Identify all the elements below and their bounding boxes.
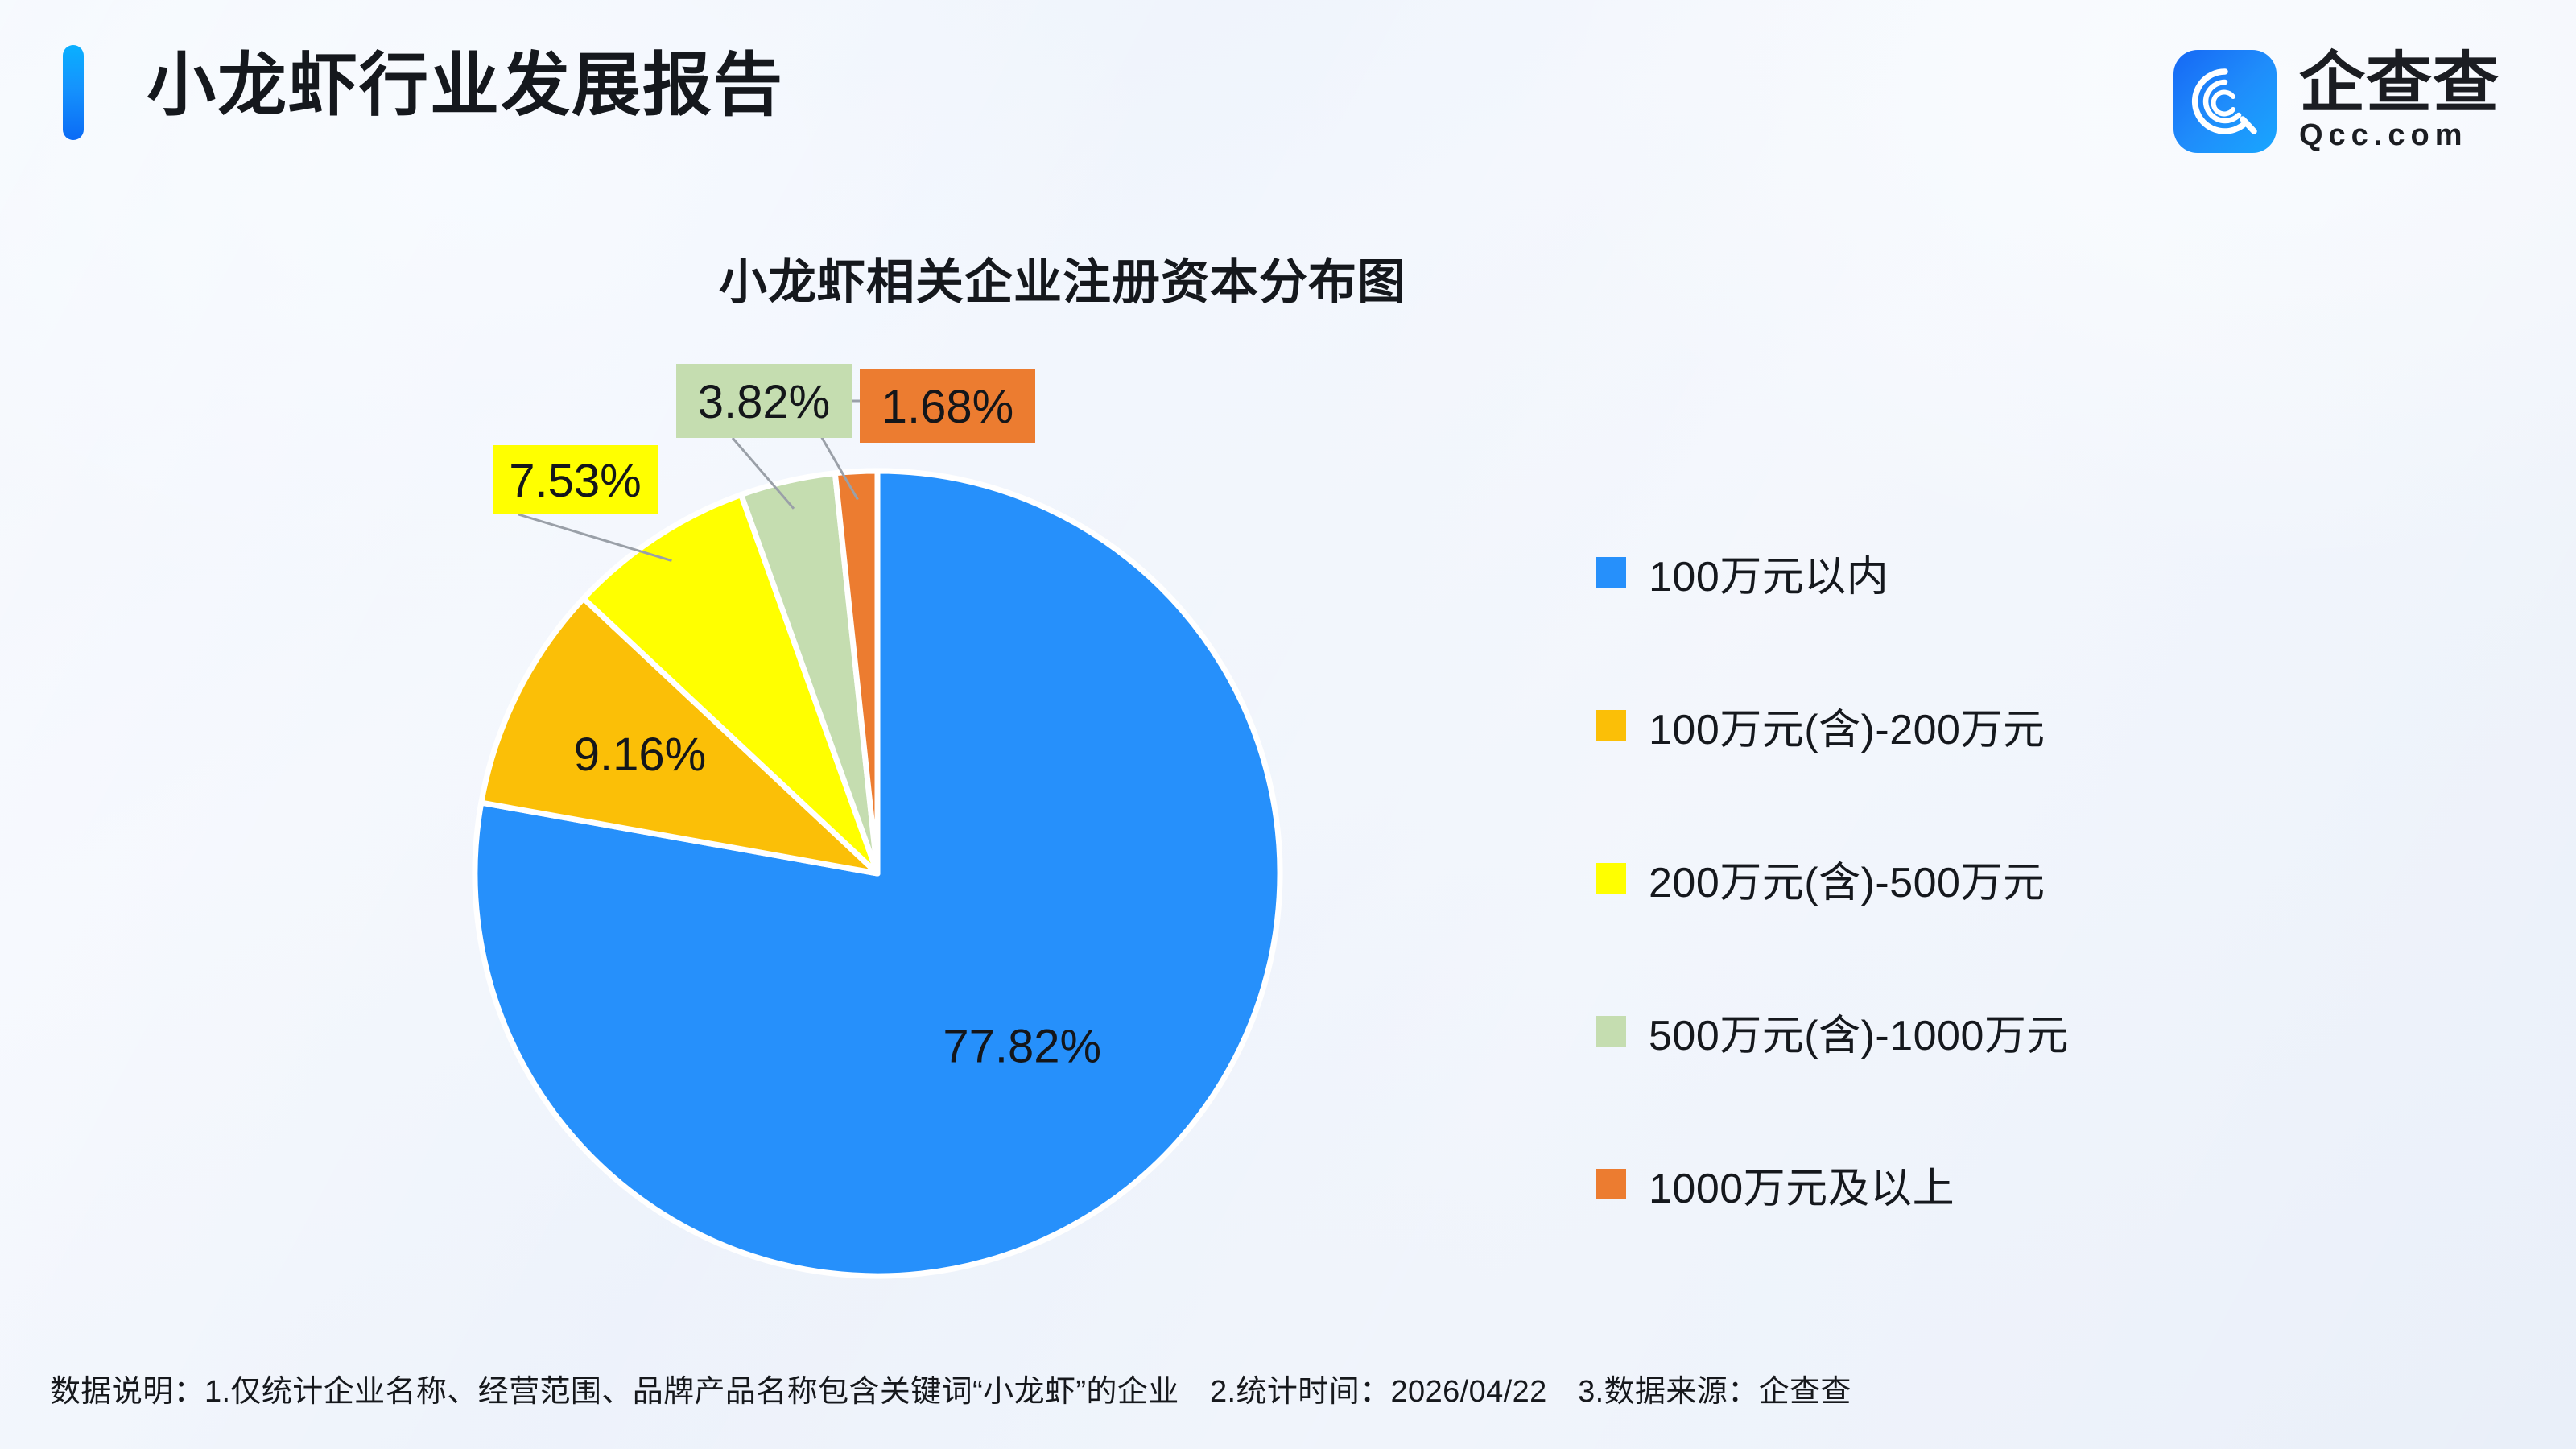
pie-callout-value-label: 7.53% — [509, 455, 641, 507]
legend-item[interactable]: 100万元以内 — [1596, 496, 2069, 649]
pie-callout-value-label: 3.82% — [698, 376, 830, 428]
legend-item[interactable]: 100万元(含)-200万元 — [1596, 649, 2069, 802]
pie-leader-line — [518, 514, 671, 561]
legend-item-label: 100万元(含)-200万元 — [1649, 696, 2045, 756]
legend-swatch-icon — [1596, 1016, 1626, 1046]
legend-swatch-icon — [1596, 863, 1626, 894]
pie-slice-group — [475, 471, 1280, 1276]
legend-item-label: 100万元以内 — [1649, 543, 1889, 603]
footnote: 数据说明：1.仅统计企业名称、经营范围、品牌产品名称包含关键词“小龙虾”的企业 … — [50, 1366, 1851, 1410]
report-canvas: 小龙虾行业发展报告 企查查 Qcc.com 小龙虾相关企业注册资本分布图 7.5… — [0, 0, 2576, 1449]
legend-item-label: 500万元(含)-1000万元 — [1649, 1001, 2069, 1062]
legend-swatch-icon — [1596, 710, 1626, 741]
legend-swatch-icon — [1596, 1169, 1626, 1199]
legend-item[interactable]: 500万元(含)-1000万元 — [1596, 955, 2069, 1108]
pie-callout-value-label: 1.68% — [881, 381, 1013, 433]
pie-slice-value-label: 77.82% — [943, 1021, 1101, 1073]
chart-legend: 100万元以内100万元(含)-200万元200万元(含)-500万元500万元… — [1596, 496, 2069, 1261]
pie-chart: 7.53%3.82%1.68% 77.82%9.16% — [0, 0, 2576, 1449]
legend-item[interactable]: 200万元(含)-500万元 — [1596, 802, 2069, 955]
pie-slice-value-label: 9.16% — [574, 729, 706, 781]
legend-item[interactable]: 1000万元及以上 — [1596, 1108, 2069, 1261]
legend-item-label: 200万元(含)-500万元 — [1649, 848, 2045, 909]
legend-swatch-icon — [1596, 557, 1626, 588]
legend-item-label: 1000万元及以上 — [1649, 1154, 1955, 1215]
